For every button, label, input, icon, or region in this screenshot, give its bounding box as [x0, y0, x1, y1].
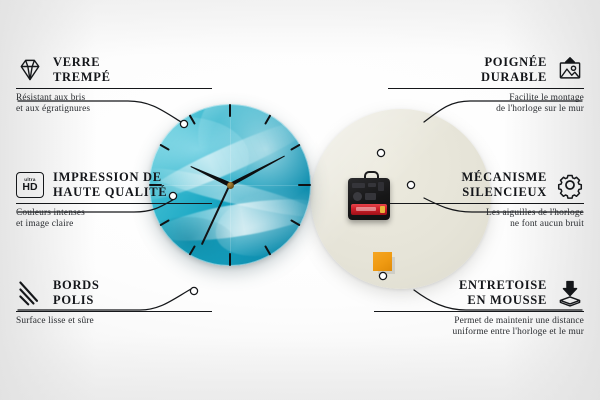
feature-title: BORDS POLIS [53, 278, 100, 307]
feature-title: POIGNÉE DURABLE [481, 55, 547, 84]
feature-title: IMPRESSION DE HAUTE QUALITÉ [53, 170, 167, 199]
feature-divider [16, 311, 212, 312]
feature-description: Résistant aux bris et aux égratignures [16, 93, 212, 116]
feature-header: ENTRETOISE EN MOUSSE [374, 278, 584, 307]
feature-entretoise-en-mousse: ENTRETOISE EN MOUSSE Permet de maintenir… [374, 278, 584, 339]
clock-center-cap [227, 182, 234, 189]
feature-header: MÉCANISME SILENCIEUX [388, 170, 584, 199]
feature-poignee-durable: POIGNÉE DURABLE Facilite le montage de l… [388, 55, 584, 116]
ultra-hd-icon-main-label: HD [22, 182, 37, 193]
feature-divider [16, 88, 212, 89]
feature-impression-haute-qualite: ultra HD IMPRESSION DE HAUTE QUALITÉ Cou… [16, 170, 212, 231]
feature-title: VERRE TREMPÉ [53, 55, 111, 84]
gear-icon [556, 171, 584, 199]
clock-tick [229, 185, 231, 266]
feature-header: VERRE TREMPÉ [16, 55, 212, 84]
feature-divider [388, 88, 584, 89]
feature-description: Surface lisse et sûre [16, 316, 212, 327]
hanging-picture-icon [556, 56, 584, 84]
clock-battery [351, 204, 387, 215]
feature-header: ultra HD IMPRESSION DE HAUTE QUALITÉ [16, 170, 212, 199]
feature-mecanisme-silencieux: MÉCANISME SILENCIEUX Les aiguilles de l'… [388, 170, 584, 231]
feature-description: Couleurs intenses et image claire [16, 208, 212, 231]
feature-header: POIGNÉE DURABLE [388, 55, 584, 84]
clock-tick [229, 104, 231, 185]
battery-label-strip [356, 207, 376, 211]
product-infographic: VERRE TREMPÉ Résistant aux bris et aux é… [0, 0, 600, 400]
feature-divider [374, 311, 584, 312]
feature-divider [16, 203, 212, 204]
diamond-icon [16, 56, 44, 84]
feature-header: BORDS POLIS [16, 278, 212, 307]
battery-terminal [380, 206, 385, 213]
movement-detail [368, 183, 376, 187]
feature-description: Les aiguilles de l'horloge ne font aucun… [388, 208, 584, 231]
feature-description: Permet de maintenir une distance uniform… [374, 316, 584, 339]
feature-title: MÉCANISME SILENCIEUX [462, 170, 547, 199]
foam-spacer-icon [556, 279, 584, 307]
ultra-hd-icon: ultra HD [16, 172, 44, 198]
movement-detail [365, 193, 376, 200]
feature-bords-polis: BORDS POLIS Surface lisse et sûre [16, 278, 212, 327]
feature-divider [388, 203, 584, 204]
feature-verre-trempe: VERRE TREMPÉ Résistant aux bris et aux é… [16, 55, 212, 116]
movement-detail [353, 192, 362, 201]
feature-description: Facilite le montage de l'horloge sur le … [388, 93, 584, 116]
feature-title: ENTRETOISE EN MOUSSE [459, 278, 547, 307]
movement-detail [352, 183, 365, 188]
polished-edges-icon [16, 279, 44, 307]
movement-detail [378, 182, 384, 191]
clock-movement-box [348, 178, 390, 220]
clock-tick [230, 184, 311, 186]
foam-spacer [373, 252, 392, 271]
